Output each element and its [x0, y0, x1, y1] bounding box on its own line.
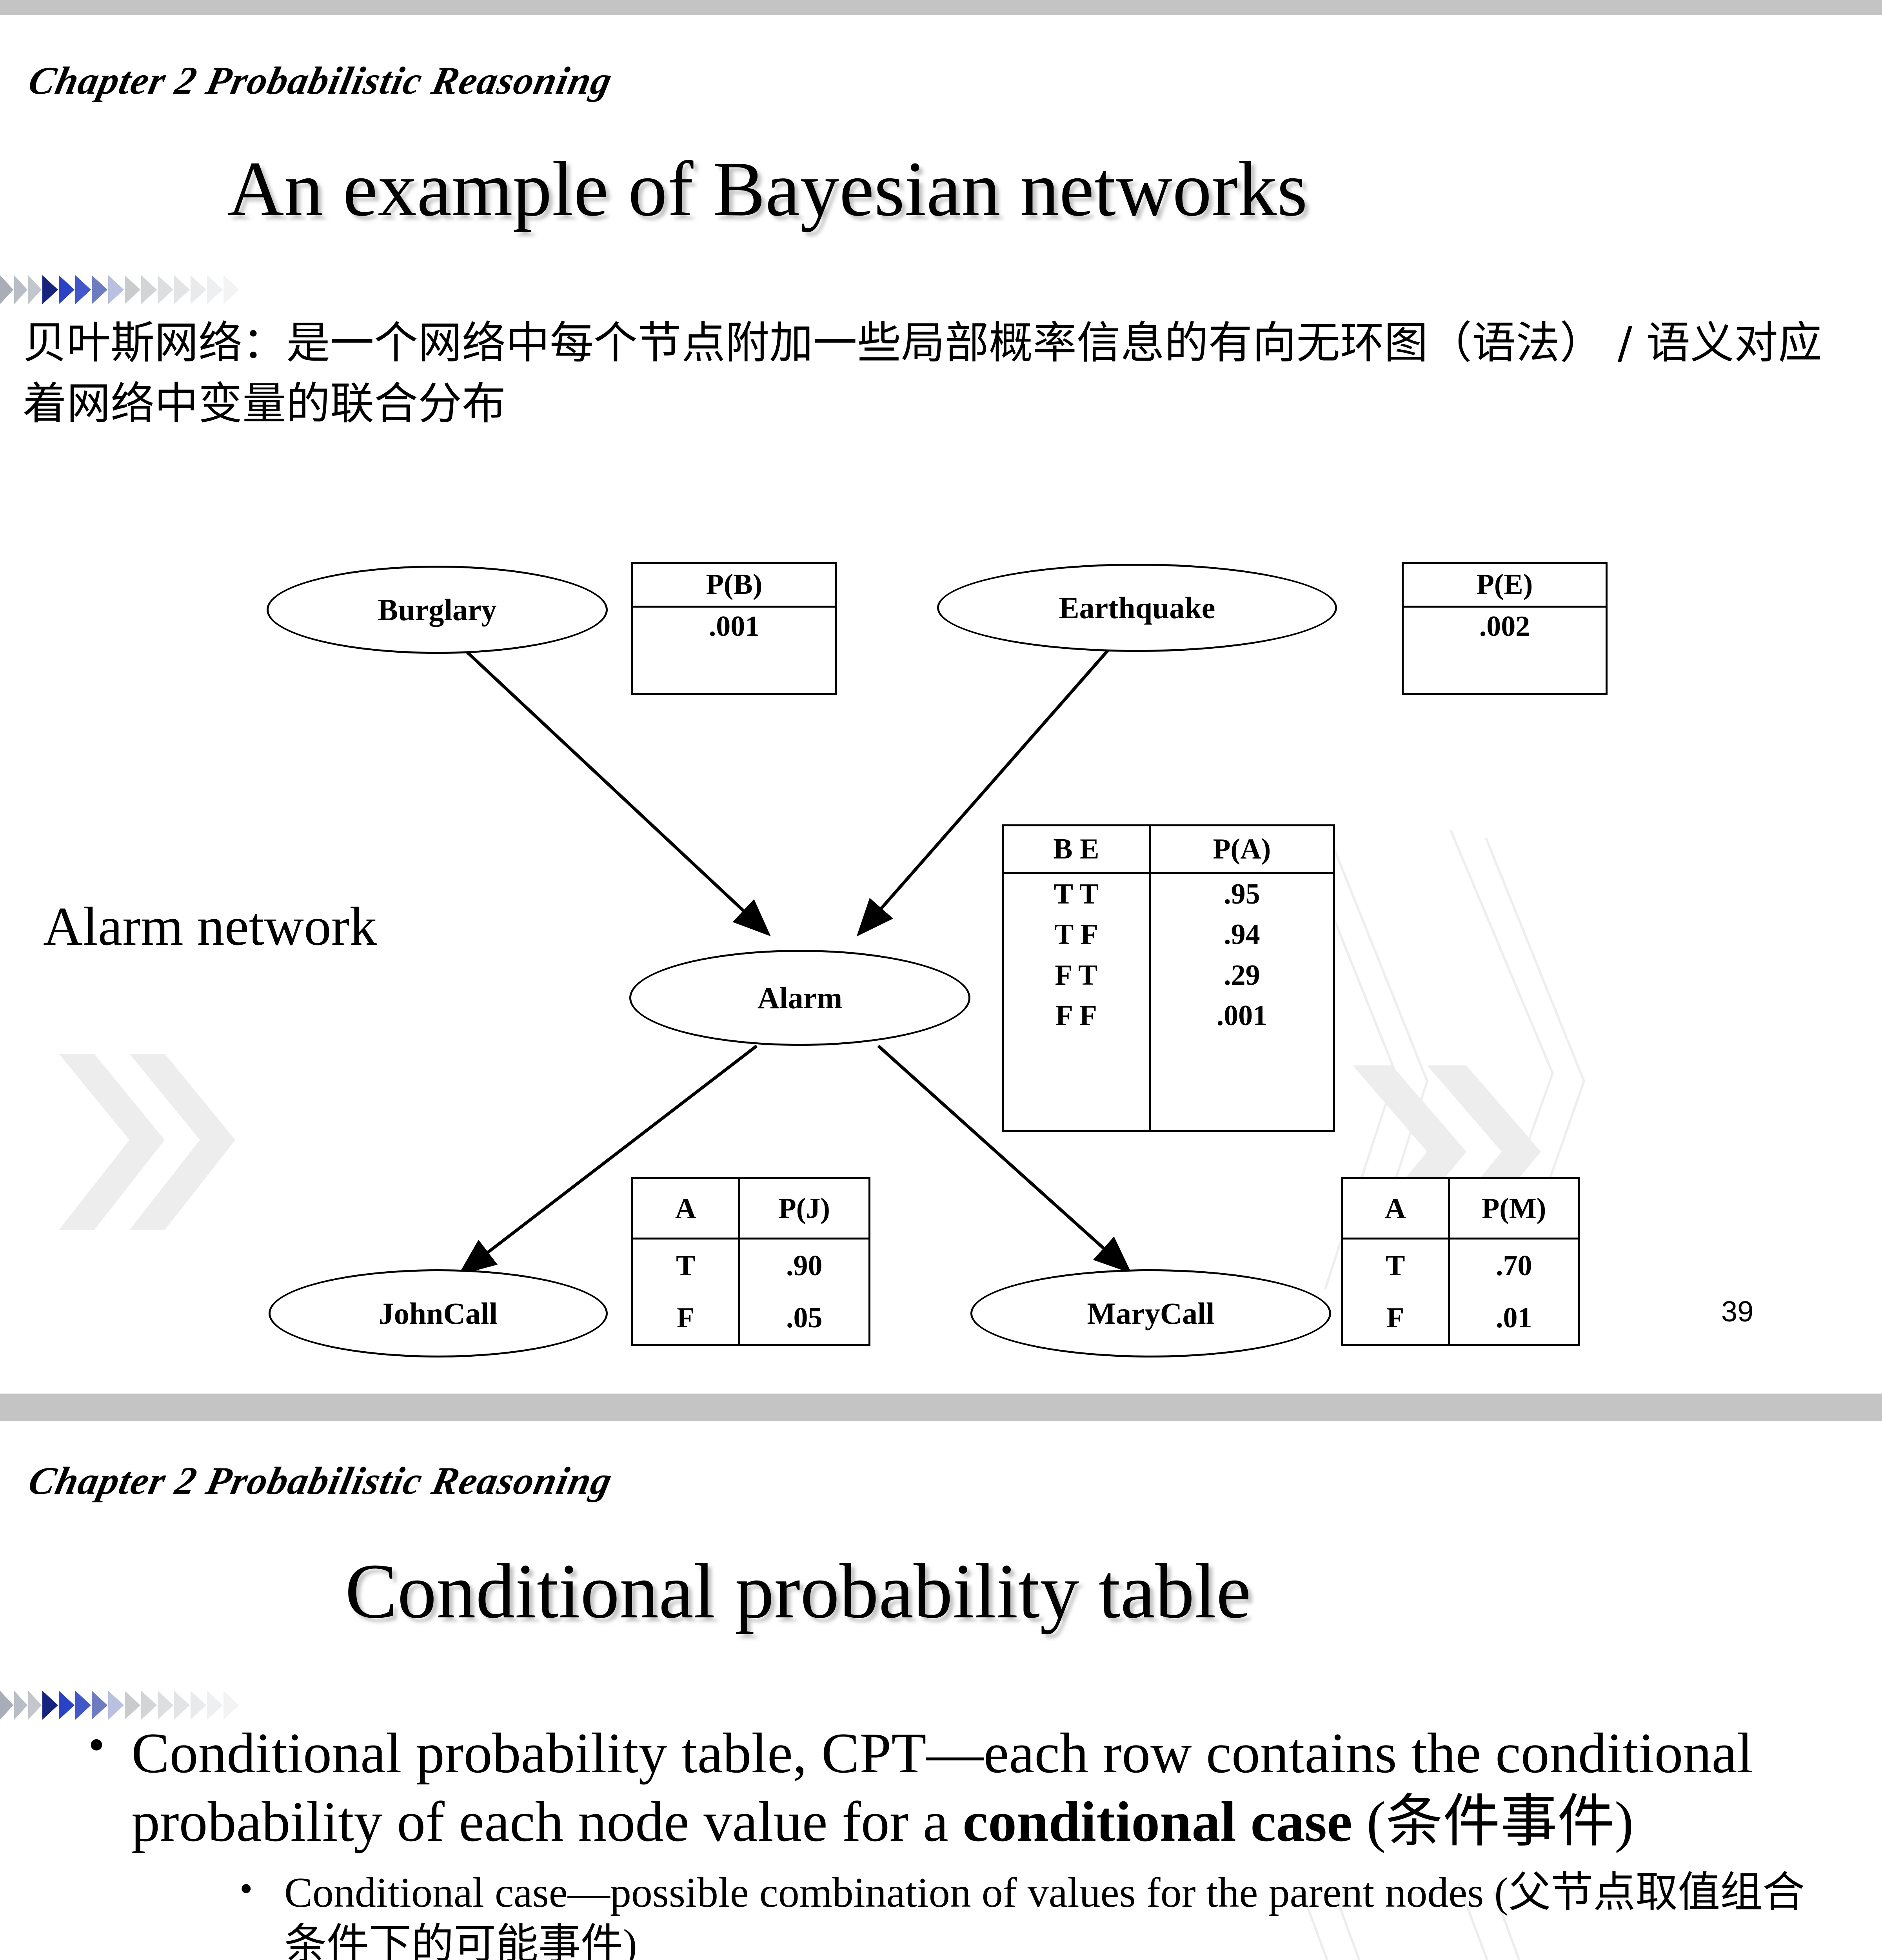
cpt-cond-cell: T T [1004, 873, 1150, 914]
cpt-header-cell: A [1343, 1179, 1449, 1239]
cpt-cond-cell: F [633, 1292, 739, 1344]
cpt-table-burglary: P(B) .001 [631, 562, 837, 695]
sub-bullet-list: Conditional case—possible combination of… [225, 1867, 1817, 1960]
top-grey-band [0, 0, 1882, 15]
slide-bayesian-network-example: Chapter 2 Probabilistic Reasoning An exa… [0, 15, 1882, 1394]
chevron-marker [223, 1691, 239, 1720]
presentation-page: Chapter 2 Probabilistic Reasoning An exa… [0, 0, 1882, 1960]
cpt-header-cell: B E [1004, 826, 1150, 873]
slide-title: Conditional probability table [345, 1546, 1251, 1636]
chevron-marker [28, 1691, 42, 1720]
network-node-burglary[interactable]: Burglary [267, 566, 608, 654]
cpt-header-cell: A [633, 1179, 739, 1239]
alarm-network-label: Alarm network [43, 895, 377, 958]
cpt-header-cell: P(B) [633, 564, 835, 606]
network-node-label: Burglary [378, 592, 496, 628]
chevron-marker [0, 1691, 13, 1720]
cpt-header-cell: P(E) [1404, 564, 1606, 606]
chevron-marker [108, 1691, 124, 1720]
cpt-value-cell: .90 [739, 1239, 868, 1292]
chevron-marker [14, 1691, 27, 1720]
cpt-value-cell: .29 [1150, 955, 1333, 995]
bullet-list: Conditional probability table, CPT—each … [73, 1719, 1817, 1960]
cpt-value-cell: .001 [633, 606, 835, 645]
network-node-johncall[interactable]: JohnCall [269, 1269, 608, 1357]
cpt-cond-cell: T F [1004, 915, 1150, 955]
chevron-marker [59, 1691, 74, 1720]
chevron-marker [191, 1691, 206, 1720]
bullet-text-fragment: Conditional case—possible combination of… [284, 1869, 1805, 1960]
cpt-cond-cell: T [633, 1239, 739, 1292]
network-node-label: JohnCall [379, 1296, 498, 1331]
page-number: 39 [1721, 1295, 1753, 1328]
cpt-cond-cell: F F [1004, 995, 1150, 1036]
main-bullet-emphasis: conditional case [963, 1790, 1352, 1853]
network-node-label: MaryCall [1087, 1296, 1215, 1331]
main-bullet-tail: (条件事件) [1352, 1790, 1634, 1853]
chevron-marker [42, 1691, 58, 1720]
cpt-table-earthquake: P(E) .002 [1402, 562, 1608, 695]
chevron-marker [174, 1691, 190, 1720]
chevron-divider-strip [0, 1691, 239, 1720]
network-edges [0, 15, 1882, 1394]
cpt-value-cell: .05 [739, 1292, 868, 1344]
sub-bullet-conditional-case: Conditional case—possible combination of… [225, 1867, 1817, 1960]
chapter-header: Chapter 2 Probabilistic Reasoning [25, 1458, 617, 1503]
chevron-marker [207, 1691, 223, 1720]
chevron-marker [158, 1691, 173, 1720]
cpt-cond-cell: F T [1004, 955, 1150, 995]
cpt-value-cell: .001 [1150, 995, 1333, 1036]
network-node-alarm[interactable]: Alarm [629, 950, 970, 1046]
network-node-label: Earthquake [1059, 590, 1215, 626]
cpt-header-cell: P(J) [739, 1179, 868, 1239]
chevron-marker [141, 1691, 157, 1720]
chevron-marker [125, 1691, 140, 1720]
slide-divider-band [0, 1394, 1882, 1421]
cpt-cond-cell: T [1343, 1239, 1449, 1292]
bayesian-network-diagram: Burglary Earthquake Alarm JohnCall MaryC… [0, 15, 1882, 1394]
cpt-table-marycall: A P(M) T .70 F .01 [1341, 1177, 1580, 1346]
chevron-marker [92, 1691, 107, 1720]
network-node-marycall[interactable]: MaryCall [970, 1269, 1331, 1357]
network-node-earthquake[interactable]: Earthquake [937, 564, 1337, 652]
cpt-cond-cell: F [1343, 1292, 1449, 1344]
cpt-value-cell: .95 [1150, 873, 1333, 914]
cpt-value-cell: .70 [1449, 1239, 1578, 1292]
network-node-label: Alarm [758, 980, 843, 1016]
cpt-value-cell: .01 [1449, 1292, 1578, 1344]
chevron-marker [75, 1691, 91, 1720]
main-bullet-item: Conditional probability table, CPT—each … [73, 1719, 1817, 1856]
cpt-value-cell: .94 [1150, 915, 1333, 955]
cpt-header-cell: P(A) [1150, 826, 1333, 873]
cpt-table-johncall: A P(J) T .90 F .05 [631, 1177, 870, 1346]
cpt-value-cell: .002 [1404, 606, 1606, 645]
cpt-table-alarm: B E P(A) T T .95 T F .94 F T .29 [1002, 824, 1335, 1132]
cpt-header-cell: P(M) [1449, 1179, 1578, 1239]
slide-conditional-probability-table: Chapter 2 Probabilistic Reasoning Condit… [0, 1421, 1882, 1960]
